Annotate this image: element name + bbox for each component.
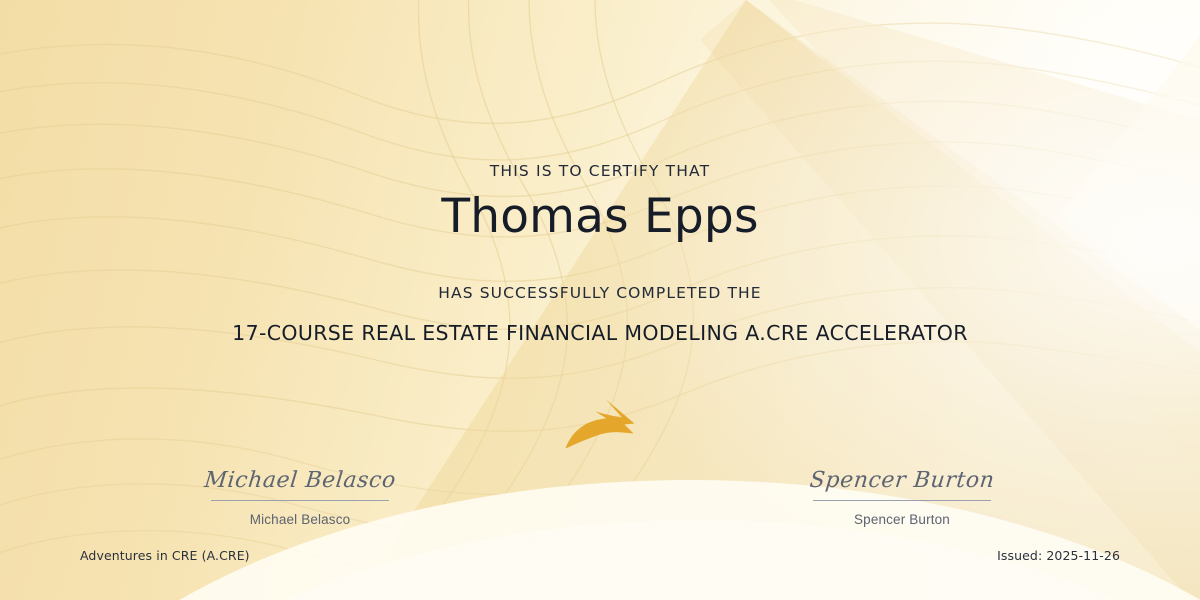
signature-script-right: Spencer Burton: [780, 466, 1023, 498]
signature-rule-left: [211, 500, 389, 501]
signature-printed-name-left: Michael Belasco: [180, 512, 420, 527]
acre-arrow-logo-icon: [562, 396, 642, 452]
certify-line: THIS IS TO CERTIFY THAT: [0, 162, 1200, 180]
footer-issued-date: Issued: 2025-11-26: [997, 548, 1120, 563]
course-title: 17-COURSE REAL ESTATE FINANCIAL MODELING…: [0, 321, 1200, 345]
completed-line: HAS SUCCESSFULLY COMPLETED THE: [0, 284, 1200, 302]
recipient-name: Thomas Epps: [0, 189, 1200, 244]
footer-organization: Adventures in CRE (A.CRE): [80, 548, 250, 563]
signature-printed-name-right: Spencer Burton: [782, 512, 1022, 527]
signature-script-left: Michael Belasco: [178, 466, 421, 498]
signature-block-right: Spencer Burton Spencer Burton: [782, 466, 1022, 527]
certificate: THIS IS TO CERTIFY THAT Thomas Epps HAS …: [0, 0, 1200, 600]
signature-rule-right: [813, 500, 991, 501]
signature-block-left: Michael Belasco Michael Belasco: [180, 466, 420, 527]
